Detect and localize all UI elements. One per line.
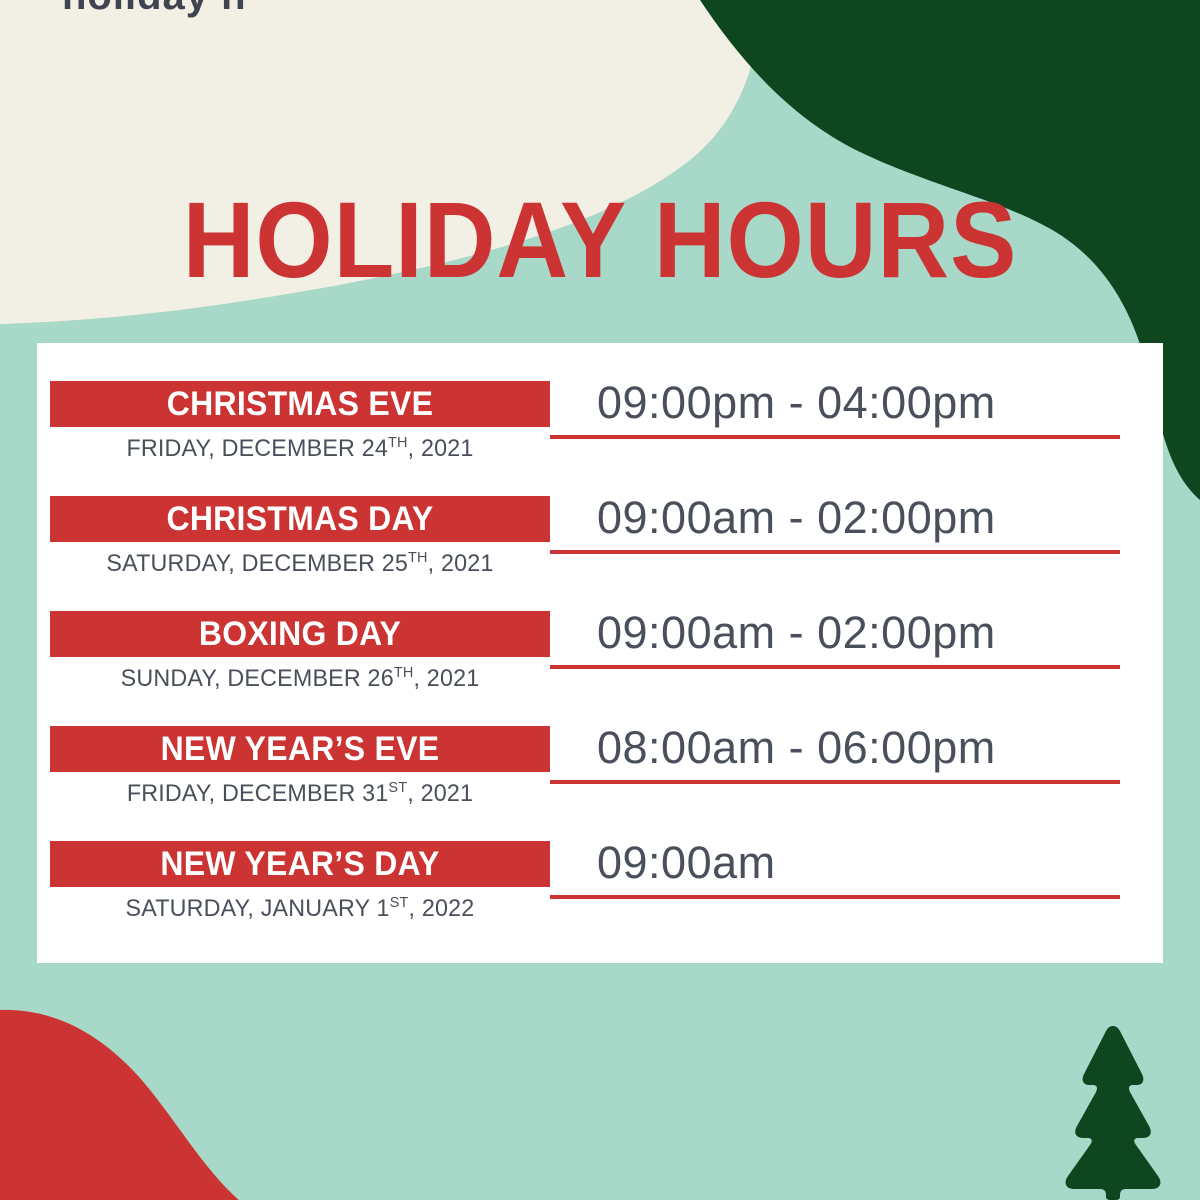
holiday-name: NEW YEAR’S EVE <box>65 726 535 772</box>
row-underline <box>550 435 1120 439</box>
row-underline <box>550 895 1120 899</box>
date-ordinal-suffix: TH <box>388 435 408 451</box>
holiday-hours-poster: holiday h HOLIDAY HOURS CHRISTMAS EVE 09… <box>0 0 1200 1200</box>
date-ordinal-suffix: TH <box>408 550 428 566</box>
christmas-tree-icon <box>1048 1022 1178 1200</box>
holiday-hours-text: 09:00pm - 04:00pm <box>597 375 1117 431</box>
date-main: SATURDAY, JANUARY 1 <box>126 895 390 922</box>
table-row: NEW YEAR’S DAY 09:00am SATURDAY, JANUARY… <box>37 803 1163 918</box>
holiday-name: CHRISTMAS EVE <box>65 381 535 427</box>
holiday-hours-text: 09:00am <box>597 835 1117 891</box>
holiday-name: NEW YEAR’S DAY <box>65 841 535 887</box>
date-ordinal-suffix: ST <box>390 895 409 911</box>
row-underline <box>550 780 1120 784</box>
date-ordinal-suffix: ST <box>388 780 407 796</box>
holiday-hours-text: 09:00am - 02:00pm <box>597 605 1117 661</box>
hours-card: CHRISTMAS EVE 09:00pm - 04:00pm FRIDAY, … <box>37 343 1163 963</box>
page-title: HOLIDAY HOURS <box>48 186 1152 294</box>
holiday-hours-text: 09:00am - 02:00pm <box>597 490 1117 546</box>
table-row: CHRISTMAS DAY 09:00am - 02:00pm SATURDAY… <box>37 458 1163 573</box>
table-row: CHRISTMAS EVE 09:00pm - 04:00pm FRIDAY, … <box>37 343 1163 458</box>
date-ordinal-suffix: TH <box>394 665 414 681</box>
table-row: NEW YEAR’S EVE 08:00am - 06:00pm FRIDAY,… <box>37 688 1163 803</box>
date-year: , 2022 <box>409 895 475 922</box>
holiday-name: CHRISTMAS DAY <box>65 496 535 542</box>
clipped-top-text: holiday h <box>62 0 247 19</box>
row-underline <box>550 665 1120 669</box>
row-underline <box>550 550 1120 554</box>
holiday-date: SATURDAY, JANUARY 1ST, 2022 <box>58 895 543 923</box>
table-row: BOXING DAY 09:00am - 02:00pm SUNDAY, DEC… <box>37 573 1163 688</box>
holiday-hours-text: 08:00am - 06:00pm <box>597 720 1117 776</box>
holiday-name: BOXING DAY <box>65 611 535 657</box>
